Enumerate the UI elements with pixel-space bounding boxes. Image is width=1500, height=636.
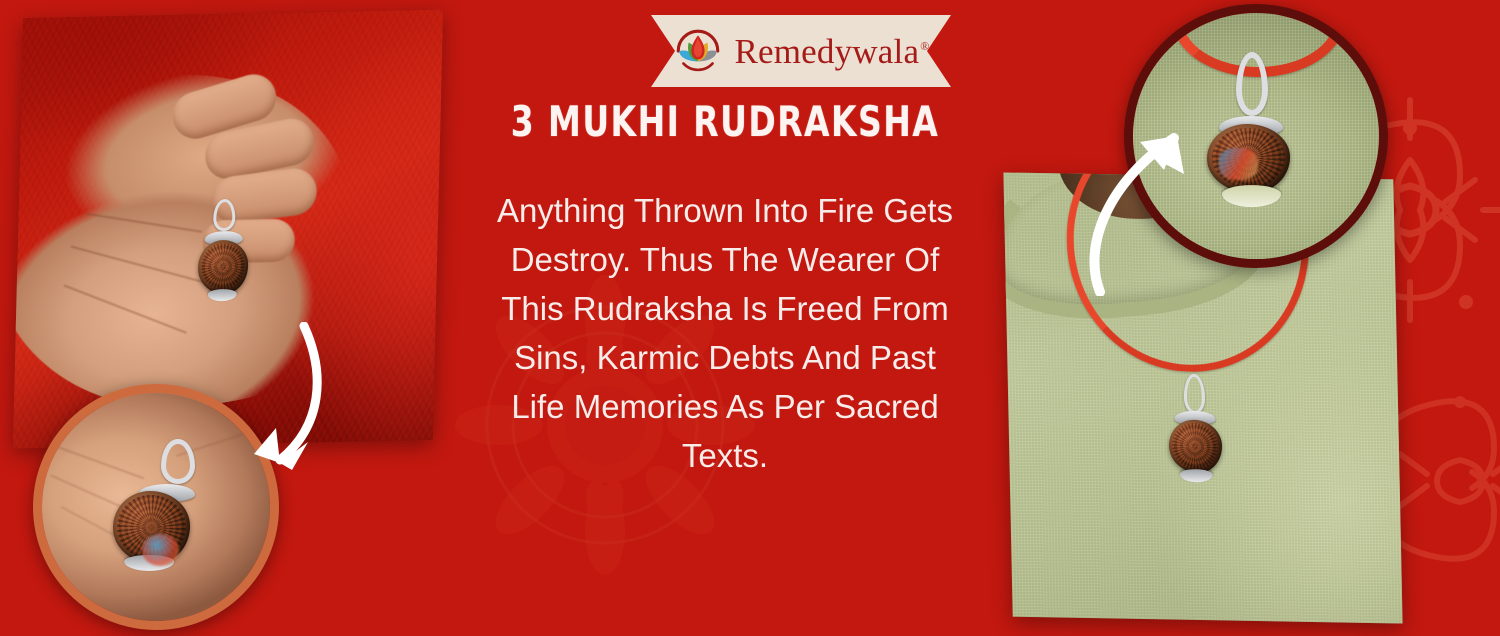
colored-reflection <box>142 534 178 566</box>
registered-trademark-mark: ® <box>920 39 929 53</box>
pendant-bail <box>161 439 195 485</box>
brand-name-text: Remedywala <box>734 32 919 71</box>
worn-pendant-closeup-inset <box>1124 4 1388 268</box>
colored-reflection <box>1219 148 1258 180</box>
lotus-flower-logo-icon <box>672 25 724 77</box>
page-title: 3 MUKHI RUDRAKSHA <box>468 98 982 147</box>
promotional-banner: Remedywala® 3 MUKHI RUDRAKSHA Anything T… <box>0 0 1500 636</box>
description-text: Anything Thrown Into Fire Gets Destroy. … <box>460 186 990 480</box>
rudraksha-bead-closeup-inset <box>33 384 279 630</box>
brand-ribbon-header: Remedywala® <box>651 15 951 87</box>
content-column: 3 MUKHI RUDRAKSHA Anything Thrown Into F… <box>460 98 990 480</box>
brand-name: Remedywala® <box>734 34 929 69</box>
hand-holding-rudraksha-pendant-photo <box>13 9 443 448</box>
